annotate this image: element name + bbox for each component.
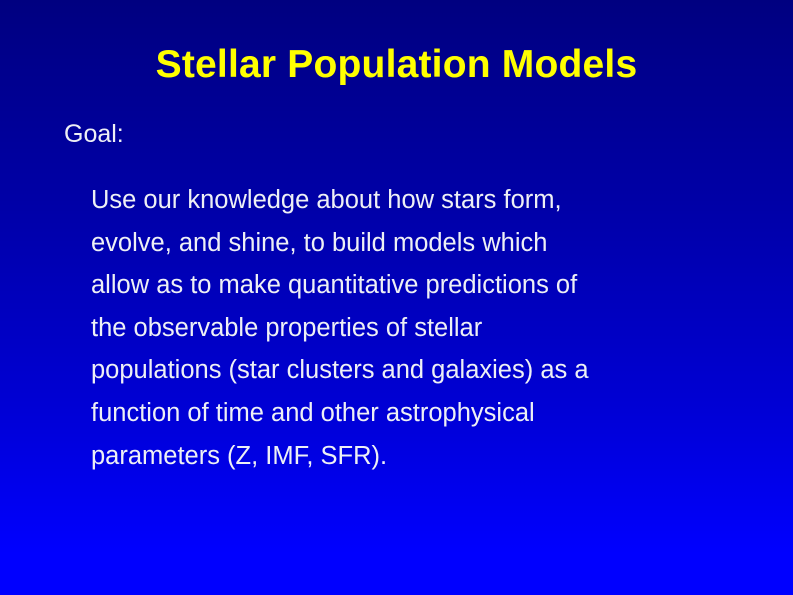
body-line: parameters (Z, IMF, SFR). [91, 435, 741, 478]
body-line: function of time and other astrophysical [91, 392, 741, 435]
body-line: evolve, and shine, to build models which [91, 222, 741, 265]
body-line: allow as to make quantitative prediction… [91, 264, 741, 307]
body-line: the observable properties of stellar [91, 307, 741, 350]
presentation-slide: Stellar Population Models Goal: Use our … [0, 0, 793, 595]
body-line: Use our knowledge about how stars form, [91, 179, 741, 222]
slide-title: Stellar Population Models [0, 44, 793, 87]
goal-body-text: Use our knowledge about how stars form, … [91, 179, 741, 477]
goal-label: Goal: [64, 120, 124, 149]
body-line: populations (star clusters and galaxies)… [91, 349, 741, 392]
